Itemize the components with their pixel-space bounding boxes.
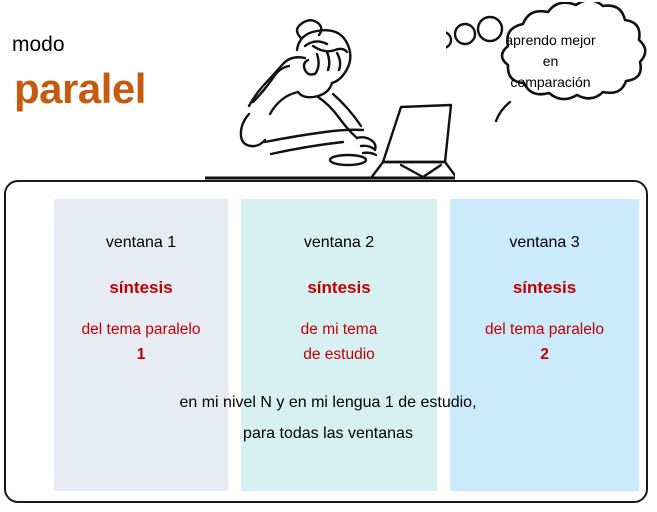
window-1-title: ventana 1 — [54, 234, 228, 252]
window-2-desc-line-2: de estudio — [241, 342, 437, 367]
window-1-synthesis-label: síntesis — [54, 278, 228, 298]
window-2-synthesis-label: síntesis — [241, 278, 437, 298]
window-2-desc-line-1: de mi tema — [241, 317, 437, 342]
window-1-desc-line-1: del tema paralelo — [54, 317, 228, 342]
window-3-title: ventana 3 — [450, 234, 639, 252]
modo-label: modo — [12, 34, 65, 55]
window-column-3[interactable]: ventana 3 síntesis del tema paralelo 2 — [450, 199, 639, 491]
page-title: paralel — [14, 68, 146, 110]
thought-bubble-line-3: comparación — [468, 72, 633, 93]
window-1-description: del tema paralelo 1 — [54, 317, 228, 367]
thought-bubble-line-2: en — [468, 51, 633, 72]
window-3-desc-line-2: 2 — [450, 342, 639, 367]
window-3-synthesis-label: síntesis — [450, 278, 639, 298]
thought-bubble-line-1: aprendo mejor — [468, 30, 633, 51]
windows-panel: ventana 1 síntesis del tema paralelo 1 v… — [4, 180, 648, 503]
window-column-2[interactable]: ventana 2 síntesis de mi tema de estudio — [241, 199, 437, 491]
window-2-title: ventana 2 — [241, 234, 437, 252]
window-3-description: del tema paralelo 2 — [450, 317, 639, 367]
window-1-desc-line-2: 1 — [54, 342, 228, 367]
header-region: modo paralel — [0, 0, 657, 180]
person-studying-at-laptop-icon — [205, 2, 455, 180]
window-column-1[interactable]: ventana 1 síntesis del tema paralelo 1 — [54, 199, 228, 491]
thought-bubble-text: aprendo mejor en comparación — [468, 30, 633, 93]
window-3-desc-line-1: del tema paralelo — [450, 317, 639, 342]
window-2-description: de mi tema de estudio — [241, 317, 437, 367]
